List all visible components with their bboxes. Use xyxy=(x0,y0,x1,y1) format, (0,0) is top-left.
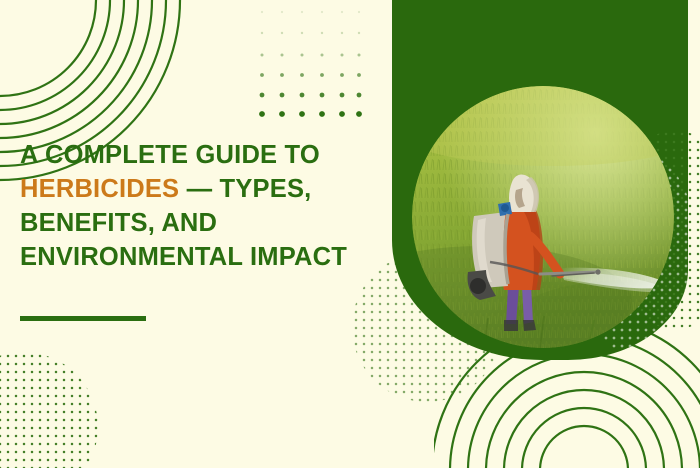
page-title: A Complete Guide to Herbicides — Types, … xyxy=(20,138,388,274)
title-underline-rule xyxy=(20,316,146,321)
headline-line-4: Environmental xyxy=(20,243,243,271)
fading-dot-grid-icon xyxy=(258,6,362,118)
headline-line-3: Benefits, and xyxy=(20,209,217,237)
headline-line-2-rest: — Types, xyxy=(179,175,311,203)
headline-line-5: Impact xyxy=(250,243,347,271)
herbicides-article-banner: A Complete Guide to Herbicides — Types, … xyxy=(0,0,700,468)
headline-accent-herbicides: Herbicides xyxy=(20,175,179,203)
hero-photo-farmer-spraying xyxy=(412,86,674,348)
headline-line-1: A Complete Guide to xyxy=(20,141,320,169)
halftone-dot-circle-bottom-left-icon xyxy=(0,352,98,468)
